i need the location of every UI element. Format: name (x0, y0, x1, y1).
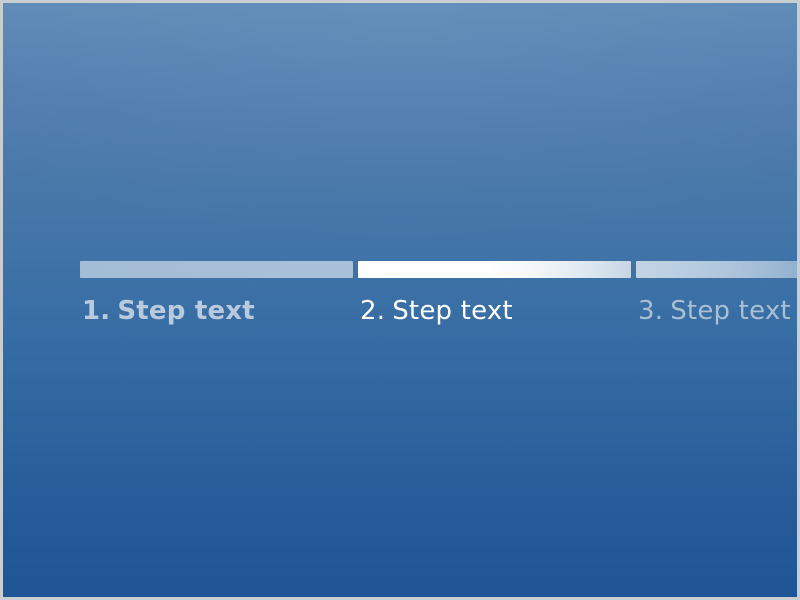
step-progress-strip: 1.Step text 2.Step text 3.Step text (80, 261, 800, 341)
step-item-3[interactable]: 3.Step text (636, 261, 800, 341)
step-label-3: 3.Step text (638, 294, 791, 328)
step-label-1: 1.Step text (82, 294, 255, 328)
slide-canvas: 1.Step text 2.Step text 3.Step text (0, 0, 800, 600)
step-number-3: 3. (638, 296, 663, 326)
step-text-2: Step text (392, 296, 513, 326)
step-item-2[interactable]: 2.Step text (358, 261, 631, 341)
step-bar-3[interactable] (636, 261, 800, 278)
step-bar-1[interactable] (80, 261, 353, 278)
step-label-2: 2.Step text (360, 294, 513, 328)
step-number-1: 1. (82, 296, 110, 326)
step-text-1: Step text (117, 296, 255, 326)
step-item-1[interactable]: 1.Step text (80, 261, 353, 341)
step-bar-2[interactable] (358, 261, 631, 278)
step-number-2: 2. (360, 296, 385, 326)
step-text-3: Step text (670, 296, 791, 326)
